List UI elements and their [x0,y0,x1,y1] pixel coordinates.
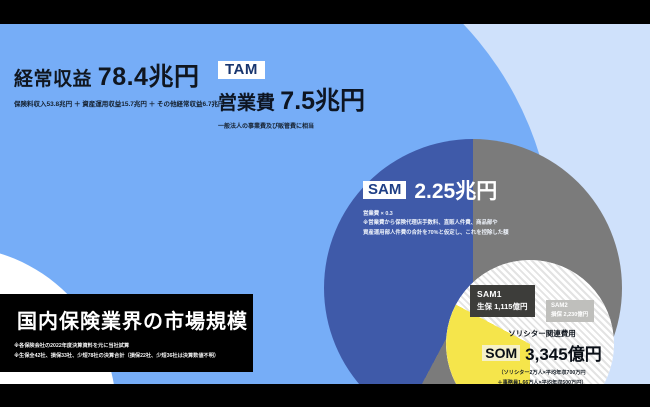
page-title: 国内保険業界の市場規模 [17,305,248,334]
sam1-badge: SAM1 [477,289,527,299]
title-note-2: ※生保全42社、損保33社、少短78社の決算合計（損保22社、少短36社は決算数… [14,351,219,361]
sam-amount: 2.25兆円 [414,175,497,205]
som-note-1: （ソリシター2万人×平均年収700万円 [462,369,622,379]
slide-canvas: 経常収益 78.4兆円 保険料収入53.8兆円 ＋ 資産運用収益15.7兆円 ＋… [0,0,650,407]
tam-headline: 営業費 7.5兆円 [218,81,448,117]
sam1-callout: SAM1 生保 1,115億円 [470,285,535,317]
sam-badge: SAM [363,181,406,199]
som-kicker: ソリシター関連費用 [462,328,622,339]
som-badge: SOM [482,345,520,361]
sam2-badge: SAM2 [551,303,588,309]
sam-note-1: 営業費 × 0.3 [363,210,613,219]
tam-block: TAM 営業費 7.5兆円 一般法人の事業費及び販管費に相当 [218,61,448,130]
revenue-label: 経常収益 [14,69,92,90]
sam-notes: 営業費 × 0.3 ※営業費から保険代理店手数料、直販人件費、商品部や 資産運用… [363,210,613,238]
slide-content-area: 経常収益 78.4兆円 保険料収入53.8兆円 ＋ 資産運用収益15.7兆円 ＋… [0,24,650,384]
revenue-amount: 78.4兆円 [98,63,200,91]
som-note-2: ＋事務員1.66万人×平均年収500万円） [462,379,622,384]
som-headline: SOM3,345億円 [462,340,622,365]
sam-block: SAM2.25兆円 営業費 × 0.3 ※営業費から保険代理店手数料、直販人件費… [363,175,613,238]
sam-note-3: 資産運用部人件費の合計を70%と仮定し、これを控除した額 [363,229,613,238]
title-notes: ※各保険会社の2022年度決算資料を元に当社試算 ※生保全42社、損保33社、少… [14,341,219,361]
tam-note: 一般法人の事業費及び販管費に相当 [218,121,448,130]
sam1-value: 生保 1,115億円 [477,301,527,312]
tam-label: 営業費 [218,93,275,114]
sam2-callout: SAM2 損保 2,230億円 [546,300,594,322]
som-block: ソリシター関連費用 SOM3,345億円 （ソリシター2万人×平均年収700万円… [462,328,622,384]
sam2-value: 損保 2,230億円 [551,310,588,318]
sam-note-2: ※営業費から保険代理店手数料、直販人件費、商品部や [363,219,613,228]
som-notes: （ソリシター2万人×平均年収700万円 ＋事務員1.66万人×平均年収500万円… [462,369,622,384]
som-amount: 3,345億円 [525,340,602,365]
tam-amount: 7.5兆円 [280,87,365,115]
tam-badge: TAM [218,61,265,79]
title-note-1: ※各保険会社の2022年度決算資料を元に当社試算 [14,341,219,351]
title-card: 国内保険業界の市場規模 ※各保険会社の2022年度決算資料を元に当社試算 ※生保… [0,294,253,372]
